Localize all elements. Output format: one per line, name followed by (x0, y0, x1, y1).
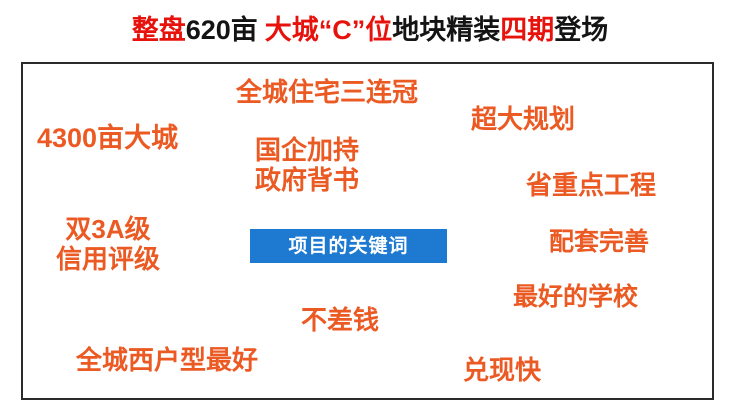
keyword-item-complete-facilities: 配套完善 (549, 228, 649, 257)
keyword-item-soe-backing-government-endorsement: 国企加持 政府背书 (255, 135, 359, 195)
keyword-item-best-west-facing-unit: 全城西户型最好 (76, 345, 258, 375)
title-segment-6: 登场 (554, 15, 608, 45)
keyword-board: 4300亩大城 全城住宅三连冠 超大规划 国企加持 政府背书 省重点工程 双3A… (21, 62, 714, 400)
keyword-line: 最好的学校 (513, 283, 638, 312)
page-title: 整盘620亩大城“C”位地块精装四期登场 (0, 13, 740, 47)
keyword-item-provincial-key-project: 省重点工程 (526, 170, 656, 200)
keyword-item-fast-delivery: 兑现快 (463, 355, 541, 385)
keyword-line: 省重点工程 (526, 170, 656, 200)
keyword-item-not-short-of-money: 不差钱 (301, 305, 379, 335)
keyword-item-citywide-housing-three-championships: 全城住宅三连冠 (236, 77, 418, 107)
keyword-item-super-large-plan: 超大规划 (471, 104, 575, 134)
keyword-line: 不差钱 (301, 305, 379, 335)
keyword-line: 全城西户型最好 (76, 345, 258, 375)
title-segment-2: 620亩 (186, 15, 258, 45)
keyword-line: 兑现快 (463, 355, 541, 385)
project-keywords-badge: 项目的关键词 (250, 229, 447, 263)
keyword-item-4300mu-big-city: 4300亩大城 (37, 123, 178, 154)
keyword-item-double-3a-credit-rating: 双3A级 信用评级 (56, 214, 160, 274)
keyword-line: 全城住宅三连冠 (236, 77, 418, 107)
keyword-line: 政府背书 (255, 165, 359, 195)
title-segment-4: 地块精装 (392, 15, 500, 45)
keyword-line: 超大规划 (471, 104, 575, 134)
keyword-line: 信用评级 (56, 244, 160, 274)
keyword-line: 双3A级 (56, 214, 160, 244)
poster-canvas: 整盘620亩大城“C”位地块精装四期登场 4300亩大城 全城住宅三连冠 超大规… (0, 0, 740, 416)
title-segment-5: 四期 (500, 15, 554, 45)
keyword-line: 国企加持 (255, 135, 359, 165)
title-segment-3: 大城“C”位 (265, 15, 393, 45)
project-keywords-badge-label: 项目的关键词 (288, 237, 408, 256)
keyword-line: 4300亩大城 (37, 123, 178, 154)
keyword-line: 配套完善 (549, 228, 649, 257)
keyword-item-best-school: 最好的学校 (513, 283, 638, 312)
title-segment-1: 整盘 (132, 15, 186, 45)
